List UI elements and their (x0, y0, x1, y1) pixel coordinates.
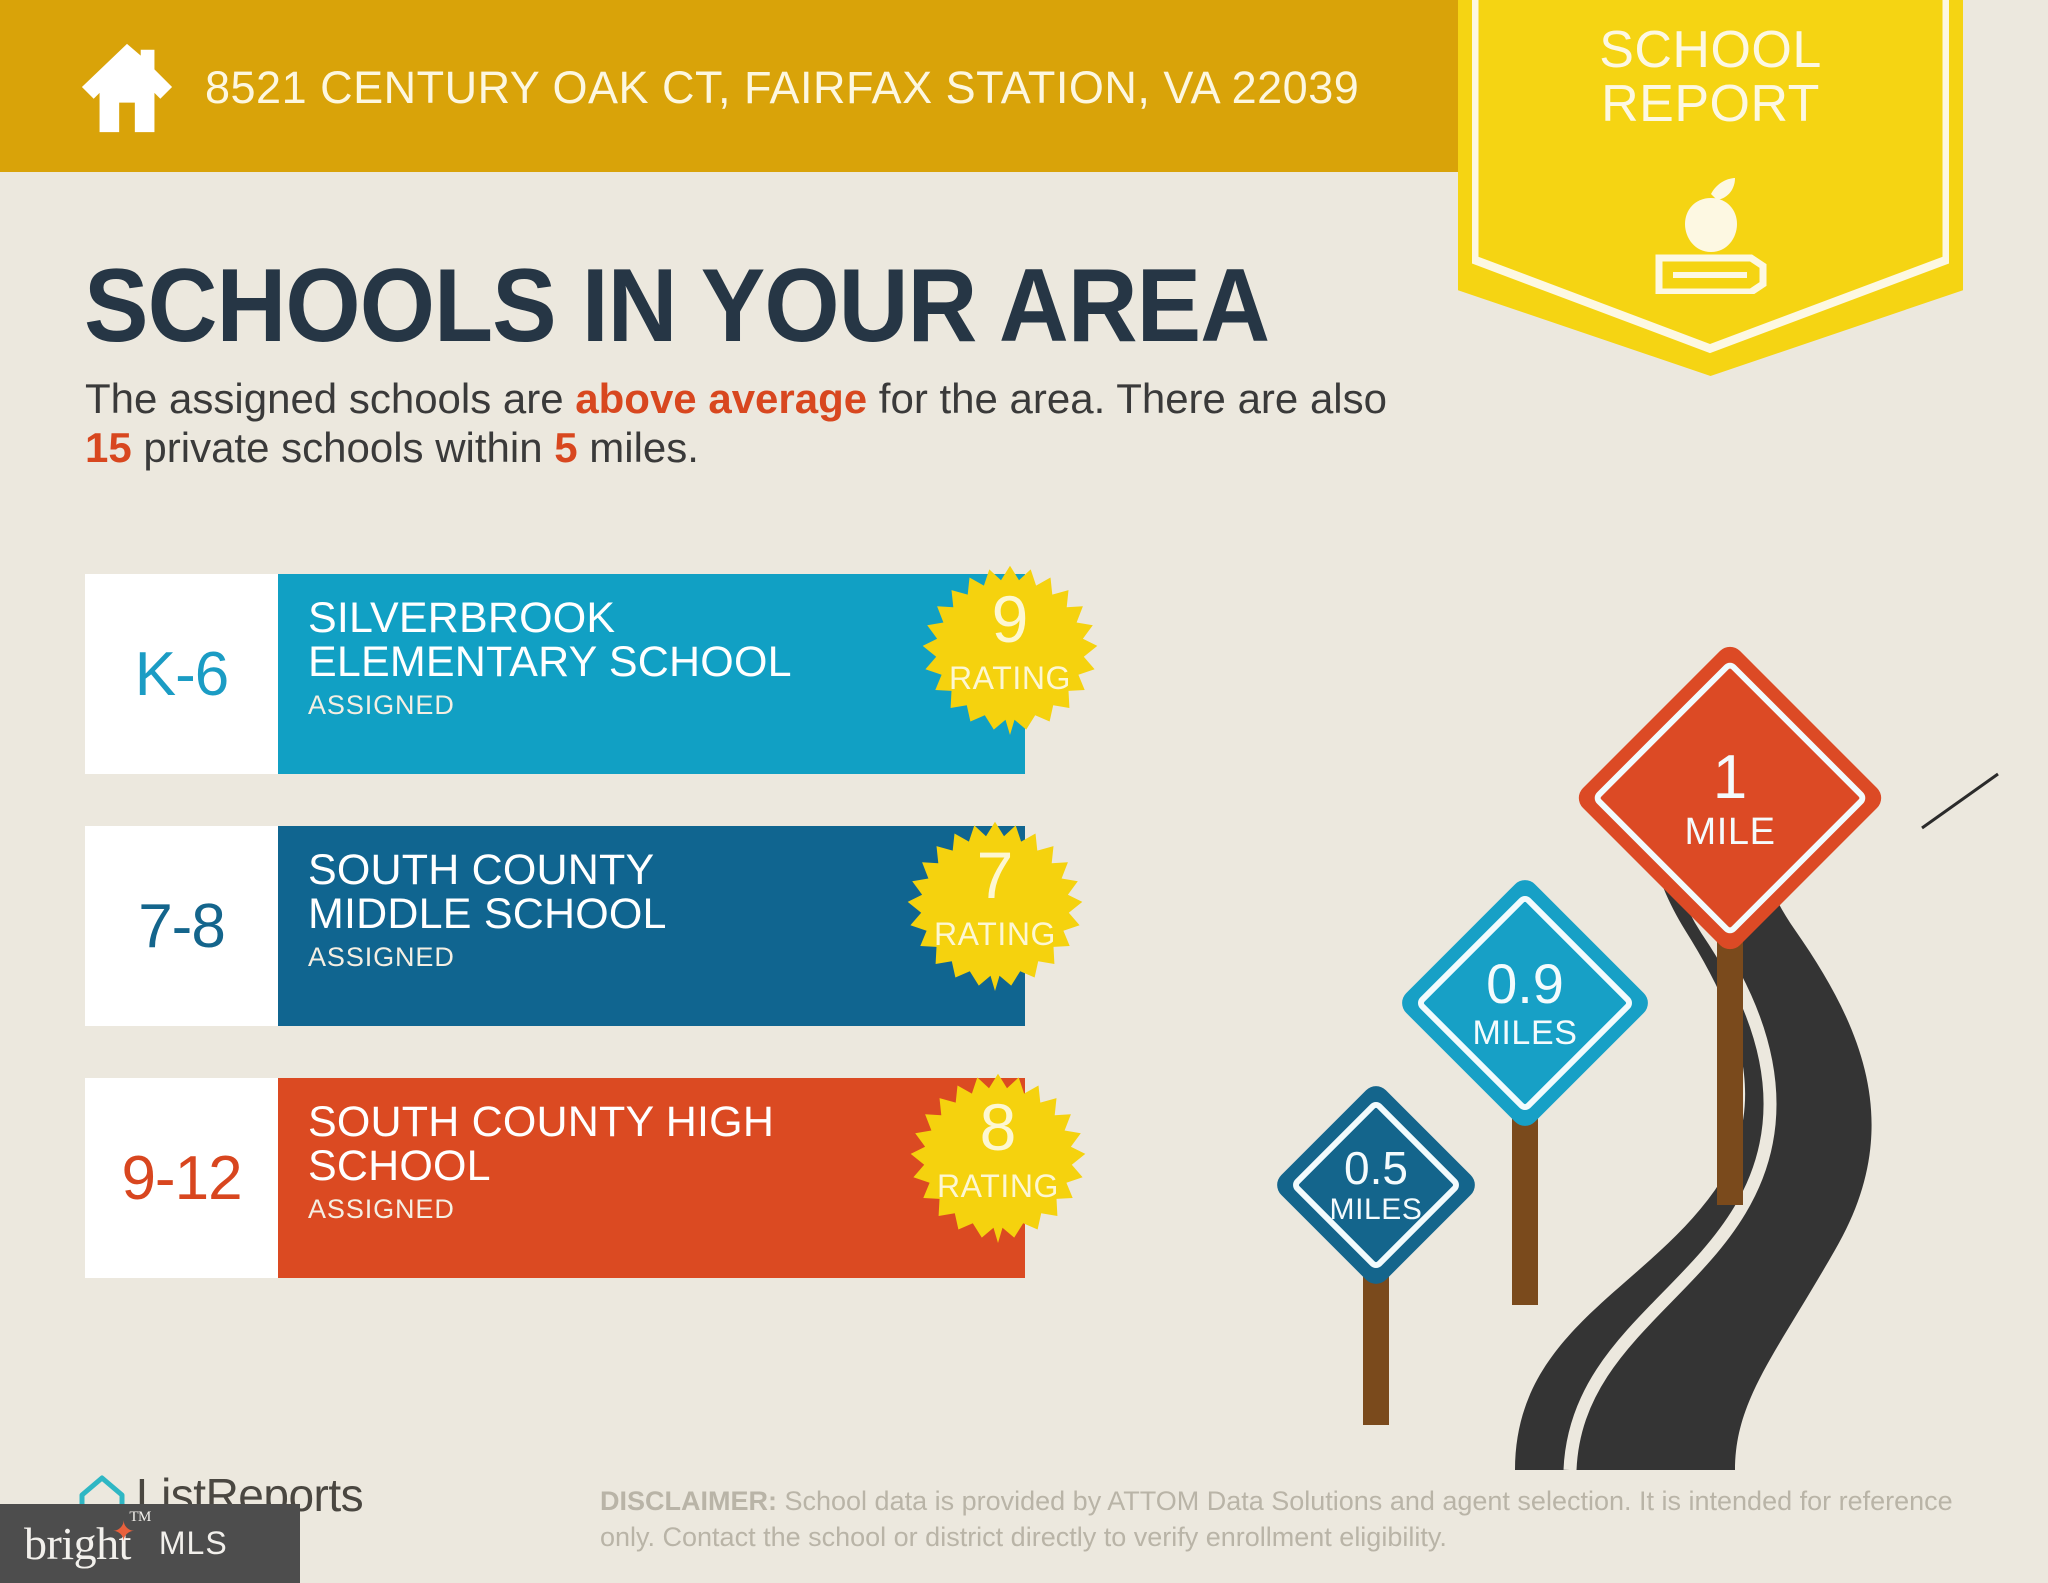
sign-distance-unit: MILES (1472, 1016, 1577, 1050)
rating-badge: 8 RATING (908, 1072, 1088, 1252)
antenna-wire (1920, 770, 2000, 830)
grade-badge: 9-12 (85, 1078, 278, 1278)
grade-badge: K-6 (85, 574, 278, 774)
distance-sign: 1 MILE (1580, 655, 1880, 1215)
school-row[interactable]: K-6 SILVERBROOK ELEMENTARY SCHOOL ASSIGN… (85, 574, 1025, 774)
subtitle-part1: The assigned schools are (85, 375, 575, 422)
subtitle-part4: miles. (578, 424, 699, 471)
rating-label: RATING (908, 1168, 1088, 1205)
sign-distance-unit: MILE (1684, 813, 1775, 851)
mls-label: MLS (159, 1525, 228, 1562)
bright-mls-watermark: bright ✦ TM MLS (0, 1504, 300, 1583)
grade-label: 9-12 (121, 1143, 241, 1214)
subtitle-part3: private schools within (132, 424, 555, 471)
subtitle-highlight-above-average: above average (575, 375, 867, 422)
grade-label: 7-8 (138, 891, 225, 962)
school-info: SILVERBROOK ELEMENTARY SCHOOL ASSIGNED (278, 574, 1025, 774)
rating-badge: 9 RATING (920, 564, 1100, 744)
subtitle-part2: for the area. There are also (867, 375, 1387, 422)
disclaimer-body: School data is provided by ATTOM Data So… (600, 1486, 1953, 1552)
subtitle-highlight-radius: 5 (554, 424, 577, 471)
disclaimer-text: DISCLAIMER: School data is provided by A… (600, 1484, 1960, 1555)
sign-distance-value: 0.9 (1486, 956, 1564, 1012)
school-report-badge: SCHOOL REPORT (1458, 0, 1963, 376)
grade-label: K-6 (135, 639, 228, 710)
disclaimer-label: DISCLAIMER: (600, 1486, 777, 1516)
property-address: 8521 CENTURY OAK CT, FAIRFAX STATION, VA… (205, 62, 1359, 114)
assigned-status: ASSIGNED (308, 690, 1025, 721)
subtitle-highlight-private-count: 15 (85, 424, 132, 471)
rating-value: 8 (908, 1094, 1088, 1160)
sign-post (1717, 905, 1743, 1205)
school-name-line2: ELEMENTARY SCHOOL (308, 640, 1025, 684)
home-icon (78, 38, 176, 136)
page-title: SCHOOLS IN YOUR AREA (84, 247, 1269, 366)
header-bar: 8521 CENTURY OAK CT, FAIRFAX STATION, VA… (0, 0, 1497, 172)
badge-title-line1: SCHOOL (1458, 24, 1963, 78)
school-name-line1: SILVERBROOK (308, 596, 1025, 640)
sign-distance-value: 0.5 (1344, 1145, 1408, 1191)
badge-title-line2: REPORT (1458, 78, 1963, 132)
badge-title: SCHOOL REPORT (1458, 24, 1963, 131)
trademark-symbol: TM (129, 1509, 151, 1526)
grade-badge: 7-8 (85, 826, 278, 1026)
subtitle: The assigned schools are above average f… (85, 375, 1445, 472)
sign-distance-value: 1 (1713, 747, 1747, 809)
rating-badge: 7 RATING (905, 820, 1085, 1000)
rating-value: 9 (920, 586, 1100, 652)
school-row[interactable]: 9-12 SOUTH COUNTY HIGH SCHOOL ASSIGNED (85, 1078, 1025, 1278)
school-row[interactable]: 7-8 SOUTH COUNTY MIDDLE SCHOOL ASSIGNED (85, 826, 1025, 1026)
apple-on-book-icon (1651, 176, 1771, 294)
bright-wordmark: bright ✦ TM (24, 1517, 131, 1570)
rating-label: RATING (905, 916, 1085, 953)
rating-value: 7 (905, 842, 1085, 908)
rating-label: RATING (920, 660, 1100, 697)
